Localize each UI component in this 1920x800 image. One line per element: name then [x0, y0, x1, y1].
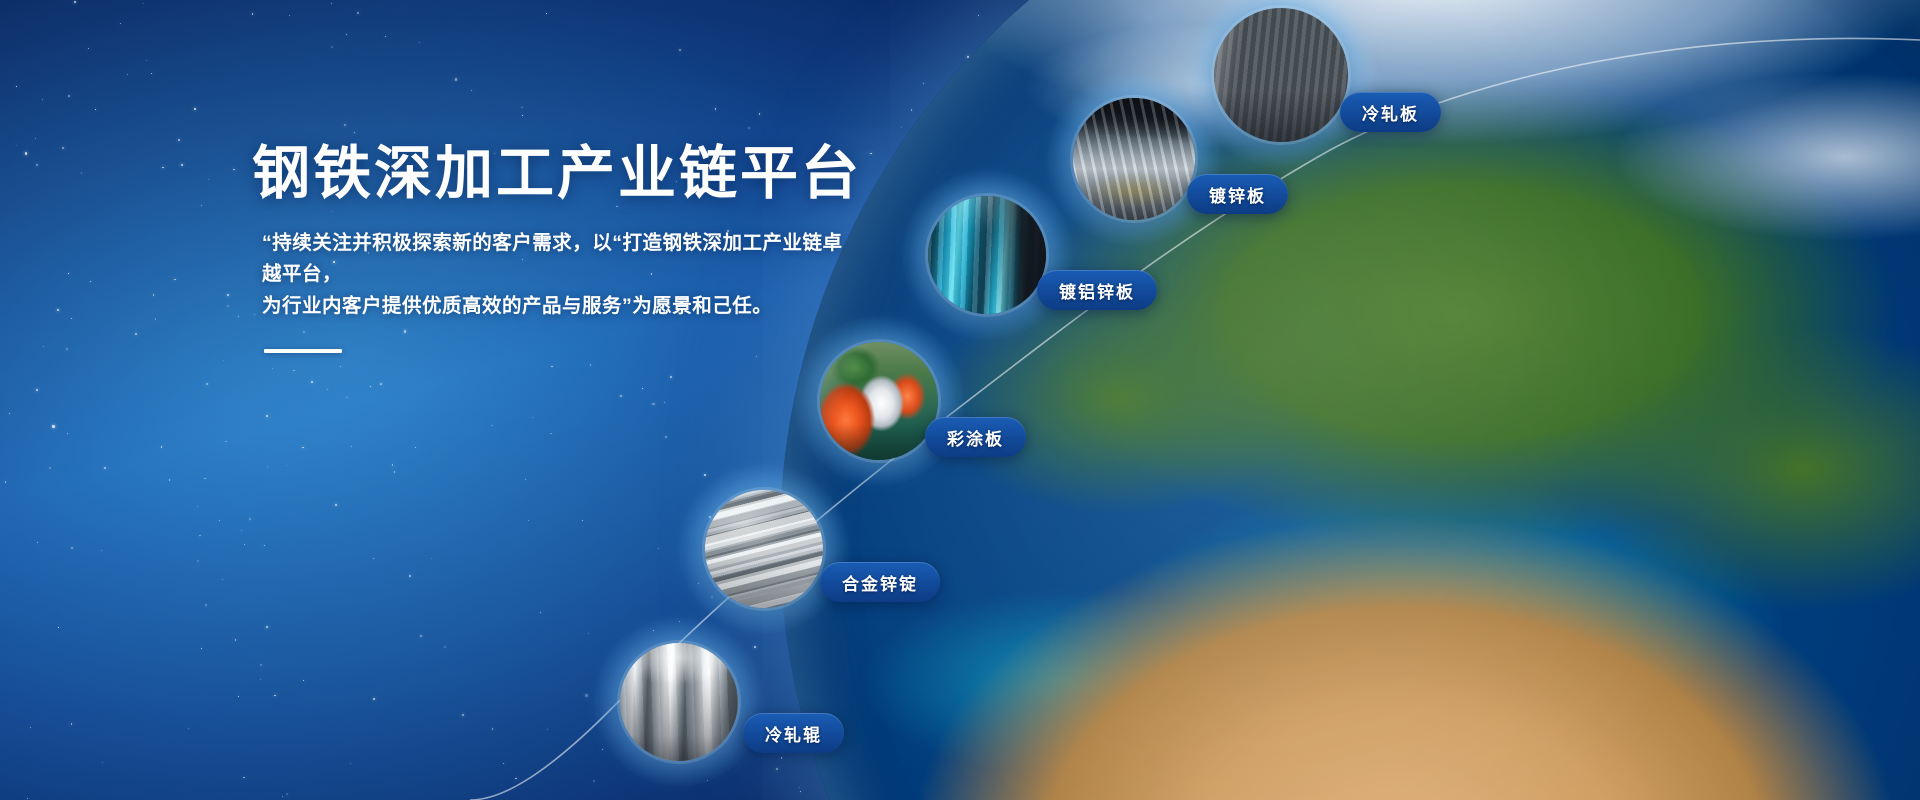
- hero-subtitle: “持续关注并积极探索新的客户需求，以“打造钢铁深加工产业链卓越平台， 为行业内客…: [262, 228, 862, 323]
- product-thumbnail-steel-coil-photo[interactable]: [1214, 8, 1348, 142]
- galvanized-warehouse-photo: [1073, 98, 1195, 220]
- product-label-6[interactable]: 冷轧辊: [743, 713, 844, 753]
- product-label-4[interactable]: 彩涂板: [925, 417, 1026, 457]
- product-thumbnail-aluzinc-blue-coil-photo[interactable]: [928, 196, 1046, 314]
- page-title: 钢铁深加工产业链平台: [252, 142, 892, 206]
- cold-rolling-roll-photo: [620, 643, 738, 761]
- steel-coil-photo: [1214, 8, 1348, 142]
- hero-subtitle-line-2: 为行业内客户提供优质高效的产品与服务”为愿景和己任。: [262, 291, 862, 323]
- hero-subtitle-line-1: “持续关注并积极探索新的客户需求，以“打造钢铁深加工产业链卓越平台，: [262, 228, 862, 291]
- product-label-5[interactable]: 合金锌锭: [820, 562, 940, 602]
- hero-copy: 钢铁深加工产业链平台 “持续关注并积极探索新的客户需求，以“打造钢铁深加工产业链…: [252, 142, 892, 353]
- product-thumbnail-color-coated-coil-photo[interactable]: [820, 342, 938, 460]
- product-thumbnail-galvanized-warehouse-photo[interactable]: [1073, 98, 1195, 220]
- aluzinc-blue-coil-photo: [928, 196, 1046, 314]
- product-label-2[interactable]: 镀锌板: [1187, 174, 1288, 214]
- product-label-3[interactable]: 镀铝锌板: [1037, 270, 1157, 310]
- product-thumbnail-cold-rolling-roll-photo[interactable]: [620, 643, 738, 761]
- color-coated-coil-photo: [820, 342, 938, 460]
- zinc-alloy-ingot-photo: [705, 490, 823, 608]
- product-thumbnail-zinc-alloy-ingot-photo[interactable]: [705, 490, 823, 608]
- product-label-1[interactable]: 冷轧板: [1340, 92, 1441, 132]
- hero-banner: 钢铁深加工产业链平台 “持续关注并积极探索新的客户需求，以“打造钢铁深加工产业链…: [0, 0, 1920, 800]
- title-divider: [264, 349, 342, 353]
